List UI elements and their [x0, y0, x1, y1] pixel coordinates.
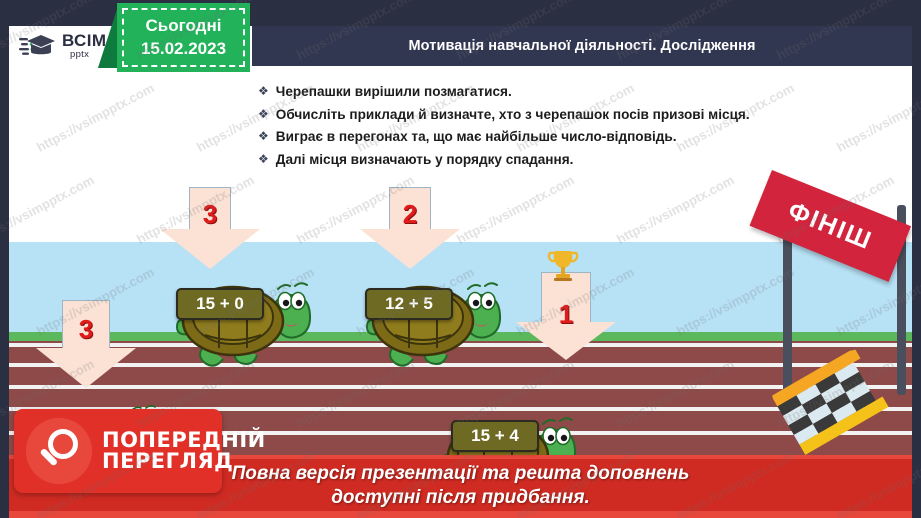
plaque-turtle-a: 15 + 0 — [176, 288, 264, 320]
preview-badge-line1: ПОПЕРЕДНІЙ — [102, 430, 266, 451]
bullet-text: Черепашки вирішили позмагатися. — [276, 82, 512, 101]
page-title: Мотивація навчальної діяльності. Дослідж… — [408, 38, 755, 54]
turtle-b — [365, 265, 510, 375]
plaque-turtle-c: 15 + 4 — [451, 420, 539, 452]
bottom-banner-line2: доступні після придбання. — [331, 486, 590, 510]
slide-right-frame — [912, 0, 921, 518]
date-tag-label: Сьогодні — [146, 15, 222, 38]
list-item: ❖ Виграє в перегонах та, що має найбільш… — [258, 127, 898, 146]
plaque-turtle-b: 12 + 5 — [365, 288, 453, 320]
header-bar: Мотивація навчальної діяльності. Дослідж… — [252, 26, 912, 66]
bullet-marker-icon: ❖ — [258, 105, 269, 124]
arrow-place-2: 2 — [360, 187, 460, 269]
slide-left-frame — [0, 0, 9, 518]
bottom-banner-line1: Повна версія презентації та решта доповн… — [232, 462, 690, 486]
bullet-text: Обчисліть приклади й визначте, хто з чер… — [276, 105, 750, 124]
arrow-place-1: 1 — [516, 272, 616, 360]
bullet-list: ❖ Черепашки вирішили позмагатися. ❖ Обчи… — [258, 82, 898, 172]
arrow-number: 1 — [516, 299, 616, 330]
magnifier-icon — [26, 418, 92, 484]
preview-badge-line2: ПЕРЕГЛЯД — [102, 451, 266, 472]
arrow-number: 3 — [36, 314, 136, 345]
date-tag-value: 15.02.2023 — [141, 38, 226, 61]
bullet-marker-icon: ❖ — [258, 127, 269, 146]
graduation-cap-icon — [19, 33, 57, 59]
trophy-icon — [543, 248, 583, 282]
list-item: ❖ Обчисліть приклади й визначте, хто з ч… — [258, 105, 898, 124]
presentation-slide: ВСІМ pptx Мотивація навчальної діяльност… — [0, 0, 921, 518]
list-item: ❖ Далі місця визначають у порядку спадан… — [258, 150, 898, 169]
preview-badge[interactable]: ПОПЕРЕДНІЙ ПЕРЕГЛЯД — [14, 409, 222, 493]
bullet-text: Далі місця визначають у порядку спадання… — [276, 150, 574, 169]
arrow-number: 2 — [360, 199, 460, 230]
bullet-marker-icon: ❖ — [258, 82, 269, 101]
arrow-place-3-left: 3 — [36, 300, 136, 388]
arrow-number: 3 — [160, 199, 260, 230]
bullet-text: Виграє в перегонах та, що має найбільше … — [276, 127, 677, 146]
arrow-place-3-top: 3 — [160, 187, 260, 269]
list-item: ❖ Черепашки вирішили позмагатися. — [258, 82, 898, 101]
turtle-a — [175, 265, 320, 375]
logo-title: ВСІМ — [62, 32, 106, 49]
bullet-marker-icon: ❖ — [258, 150, 269, 169]
date-tag: Сьогодні 15.02.2023 — [117, 3, 250, 72]
